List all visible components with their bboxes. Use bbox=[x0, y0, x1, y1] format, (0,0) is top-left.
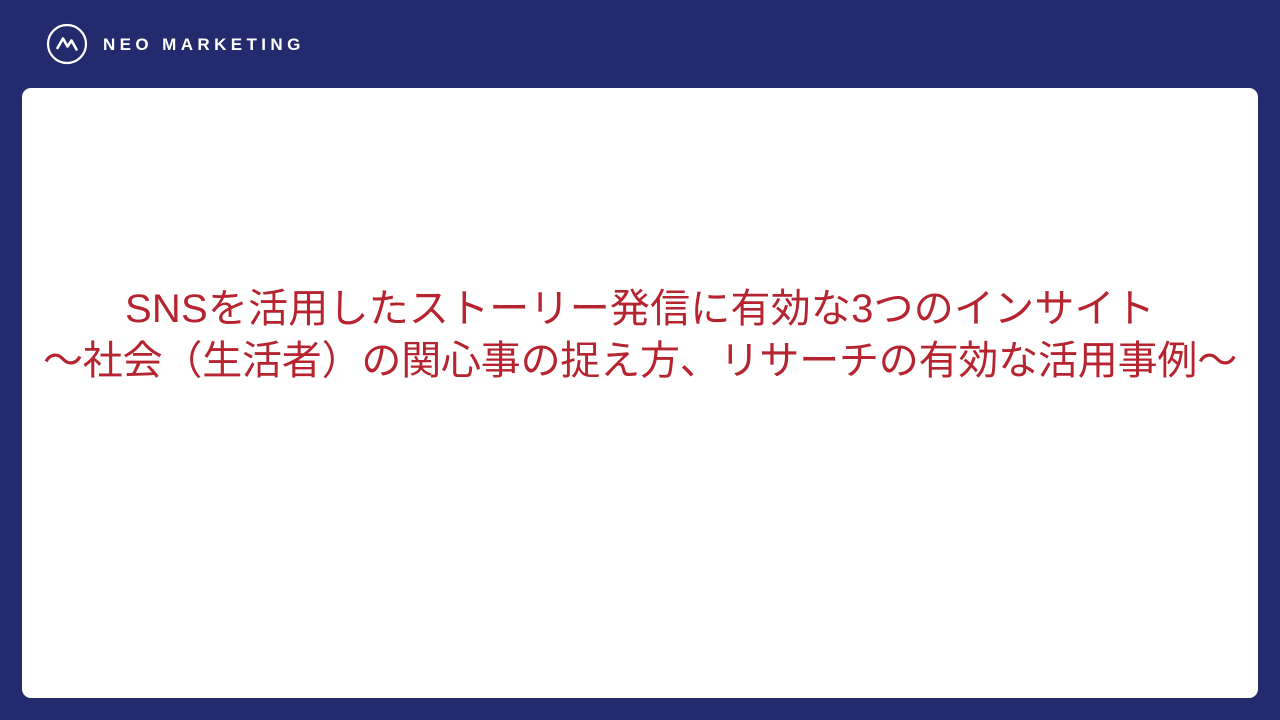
content-card: SNSを活用したストーリー発信に有効な3つのインサイト ～社会（生活者）の関心事… bbox=[22, 88, 1258, 698]
brand-name: NEO MARKETING bbox=[103, 36, 305, 53]
neo-marketing-logo-icon bbox=[46, 23, 88, 65]
brand-lockup: NEO MARKETING bbox=[46, 23, 305, 65]
page-title: SNSを活用したストーリー発信に有効な3つのインサイト bbox=[36, 283, 1244, 335]
title-slide: NEO MARKETING SNSを活用したストーリー発信に有効な3つのインサイ… bbox=[0, 0, 1280, 720]
title-block: SNSを活用したストーリー発信に有効な3つのインサイト ～社会（生活者）の関心事… bbox=[22, 283, 1258, 387]
page-subtitle: ～社会（生活者）の関心事の捉え方、リサーチの有効な活用事例～ bbox=[36, 335, 1244, 387]
